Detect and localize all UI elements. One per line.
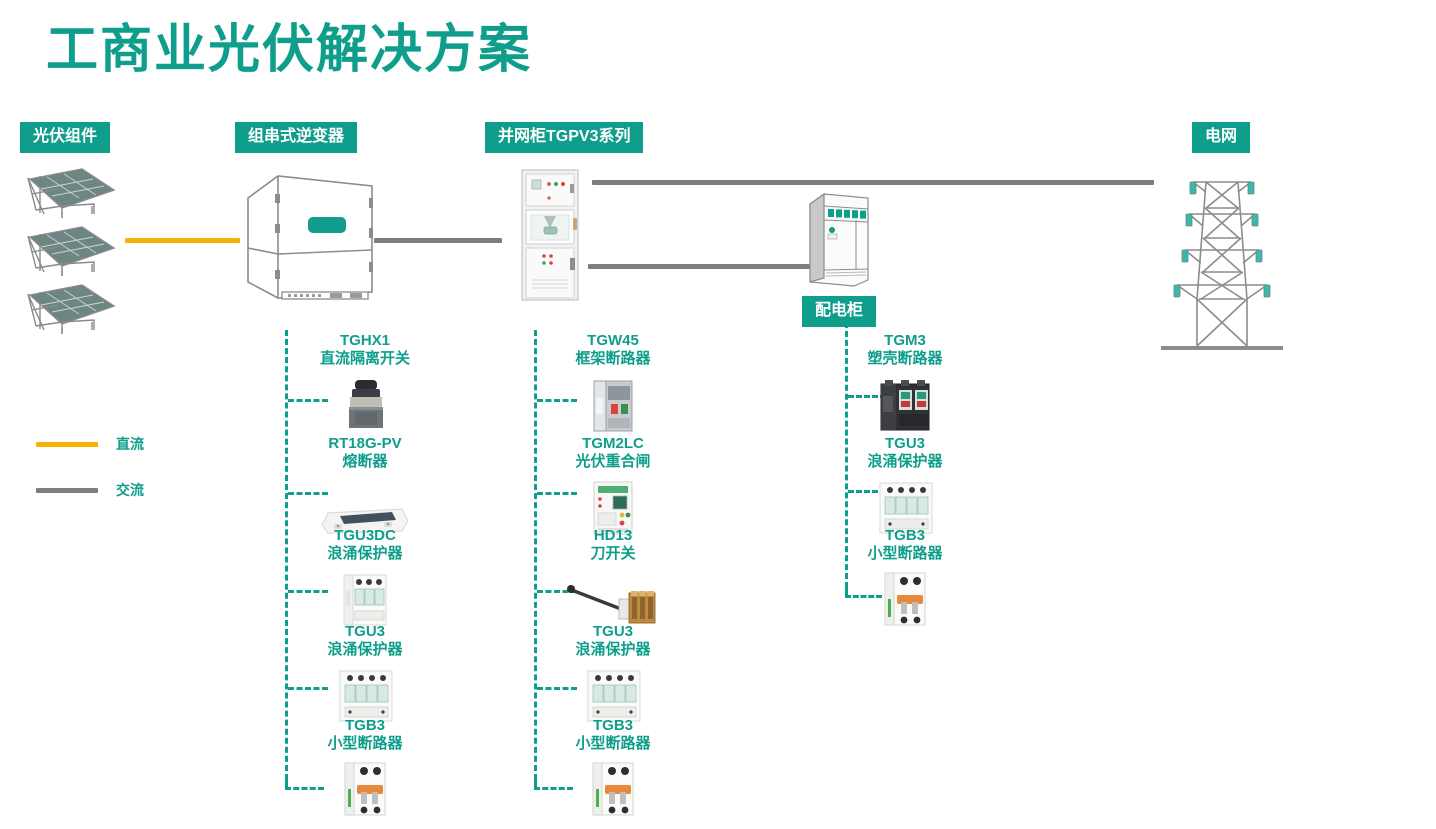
flow-line-ac-inverter-to-cabinet [374, 238, 502, 243]
product-model: TGB3 [280, 717, 450, 735]
product-item[interactable]: TGW45 框架断路器 [528, 332, 698, 434]
stage-chip-grid-cabinet[interactable]: 并网柜TGPV3系列 [485, 122, 643, 153]
product-model: TGM3 [820, 332, 990, 350]
legend-item-ac: 交流 [36, 480, 144, 500]
stage-chip-pv-modules[interactable]: 光伏组件 [20, 122, 110, 153]
flow-line-ac-cabinet-to-distribution [588, 264, 810, 269]
dc-isolator-switch-icon [280, 372, 450, 434]
molded-case-breaker-icon [820, 372, 990, 434]
legend-label-dc: 直流 [116, 434, 144, 454]
product-item[interactable]: TGB3 小型断路器 [528, 717, 698, 819]
page-title: 工商业光伏解决方案 [46, 22, 532, 79]
surge-protector-4p-icon [528, 663, 698, 725]
grid-connection-cabinet-illustration [520, 168, 580, 302]
legend-label-ac: 交流 [116, 480, 144, 500]
product-item[interactable]: HD13 刀开关 [528, 527, 698, 629]
miniature-breaker-icon [528, 757, 698, 819]
product-desc: 浪涌保护器 [820, 453, 990, 471]
product-desc: 塑壳断路器 [820, 350, 990, 368]
pv-array-2 [22, 224, 116, 280]
legend-swatch-ac [36, 488, 98, 493]
product-desc: 小型断路器 [280, 735, 450, 753]
stage-chip-inverter[interactable]: 组串式逆变器 [235, 122, 357, 153]
product-model: TGU3DC [280, 527, 450, 545]
legend-item-dc: 直流 [36, 434, 144, 454]
product-item[interactable]: TGM2LC 光伏重合闸 [528, 435, 698, 537]
product-model: TGB3 [528, 717, 698, 735]
product-desc: 小型断路器 [820, 545, 990, 563]
product-model: TGHX1 [280, 332, 450, 350]
product-desc: 浪涌保护器 [280, 545, 450, 563]
product-model: RT18G-PV [280, 435, 450, 453]
product-model: TGU3 [528, 623, 698, 641]
transmission-tower-illustration [1157, 168, 1287, 356]
product-model: TGB3 [820, 527, 990, 545]
product-model: TGW45 [528, 332, 698, 350]
product-item[interactable]: TGU3 浪涌保护器 [528, 623, 698, 725]
distribution-cabinet-illustration [806, 192, 872, 288]
legend-swatch-dc [36, 442, 98, 447]
product-item[interactable]: TGB3 小型断路器 [820, 527, 990, 629]
product-desc: 直流隔离开关 [280, 350, 450, 368]
product-item[interactable]: TGHX1 直流隔离开关 [280, 332, 450, 434]
product-desc: 浪涌保护器 [280, 641, 450, 659]
product-desc: 熔断器 [280, 453, 450, 471]
stage-chip-power-grid[interactable]: 电网 [1192, 122, 1250, 153]
product-item[interactable]: TGU3 浪涌保护器 [280, 623, 450, 725]
miniature-breaker-icon [280, 757, 450, 819]
miniature-breaker-icon [820, 567, 990, 629]
product-desc: 浪涌保护器 [528, 641, 698, 659]
string-inverter-illustration [232, 170, 378, 302]
air-circuit-breaker-icon [528, 372, 698, 434]
product-desc: 光伏重合闸 [528, 453, 698, 471]
product-item[interactable]: RT18G-PV 熔断器 [280, 435, 450, 537]
product-model: TGU3 [820, 435, 990, 453]
flow-line-ac-cabinet-to-tower [592, 180, 1154, 185]
product-model: TGU3 [280, 623, 450, 641]
product-item[interactable]: TGM3 塑壳断路器 [820, 332, 990, 434]
product-desc: 框架断路器 [528, 350, 698, 368]
product-model: HD13 [528, 527, 698, 545]
surge-protector-3p-icon [280, 567, 450, 629]
surge-protector-4p-icon [280, 663, 450, 725]
product-item[interactable]: TGB3 小型断路器 [280, 717, 450, 819]
stage-chip-distribution-cabinet[interactable]: 配电柜 [802, 296, 876, 327]
product-model: TGM2LC [528, 435, 698, 453]
product-item[interactable]: TGU3DC 浪涌保护器 [280, 527, 450, 629]
product-desc: 小型断路器 [528, 735, 698, 753]
pv-array-1 [22, 166, 116, 222]
product-item[interactable]: TGU3 浪涌保护器 [820, 435, 990, 537]
product-desc: 刀开关 [528, 545, 698, 563]
pv-array-3 [22, 282, 116, 338]
knife-switch-icon [528, 567, 698, 629]
flow-line-dc-pv-to-inverter [125, 238, 240, 243]
